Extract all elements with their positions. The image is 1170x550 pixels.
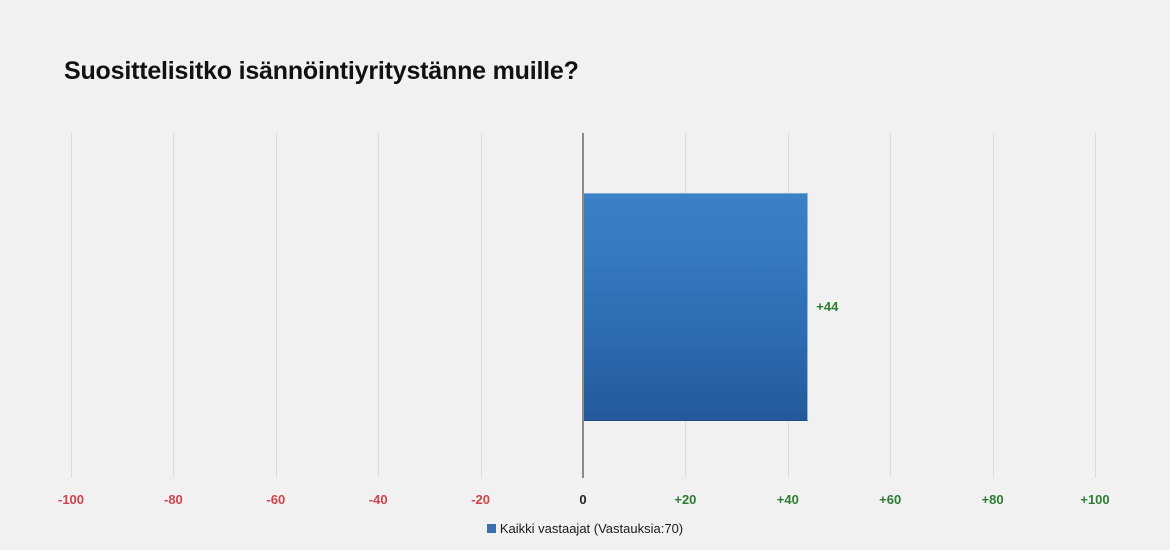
- gridline: [993, 133, 994, 478]
- gridline: [481, 133, 482, 478]
- chart-legend: Kaikki vastaajat (Vastauksia:70): [0, 521, 1170, 536]
- chart-container: Suosittelisitko isännöintiyritystänne mu…: [0, 0, 1170, 550]
- gridline: [173, 133, 174, 478]
- gridline: [890, 133, 891, 478]
- legend-item-label: Kaikki vastaajat (Vastauksia:70): [500, 521, 683, 536]
- chart-title: Suosittelisitko isännöintiyritystänne mu…: [64, 57, 579, 86]
- gridline: [276, 133, 277, 478]
- axis-tick-label: +60: [879, 492, 901, 507]
- axis-tick-label: -80: [164, 492, 183, 507]
- axis-tick-label: +40: [777, 492, 799, 507]
- axis-tick-label: +20: [674, 492, 696, 507]
- axis-tick-label: +100: [1080, 492, 1109, 507]
- legend-swatch-icon: [487, 524, 496, 533]
- gridline: [1095, 133, 1096, 478]
- gridline: [71, 133, 72, 478]
- plot-area: +44: [0, 133, 1170, 478]
- legend-items: Kaikki vastaajat (Vastauksia:70): [487, 521, 683, 536]
- axis-tick-label: -100: [58, 492, 84, 507]
- zero-axis-line: [582, 133, 584, 478]
- axis-tick-label: -40: [369, 492, 388, 507]
- axis-tick-label: +80: [982, 492, 1004, 507]
- legend-item[interactable]: Kaikki vastaajat (Vastauksia:70): [487, 521, 683, 536]
- axis-tick-label: 0: [579, 492, 586, 507]
- axis-tick-label: -20: [471, 492, 490, 507]
- axis-tick-label: -60: [266, 492, 285, 507]
- bar-value-label: +44: [816, 299, 838, 314]
- gridline: [378, 133, 379, 478]
- bar[interactable]: [583, 193, 808, 421]
